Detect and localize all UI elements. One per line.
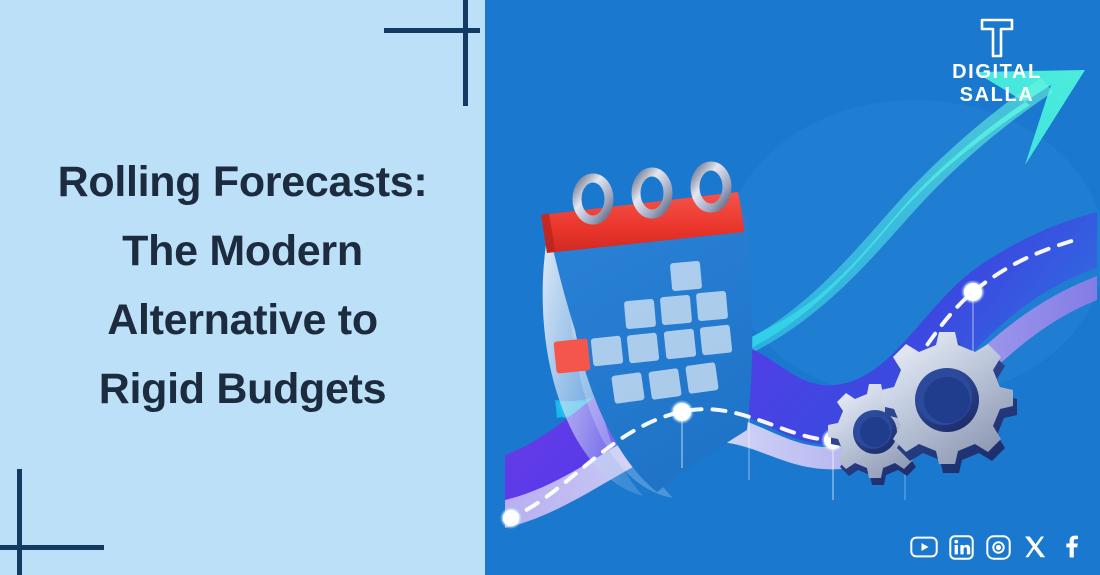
crosshair-top-vertical-icon: [463, 0, 468, 106]
crosshair-bottom-vertical-icon: [17, 469, 22, 575]
instagram-icon[interactable]: [984, 533, 1012, 561]
title-line-4: Rigid Budgets: [18, 355, 467, 424]
brand-name: DIGITAL SALLA: [912, 61, 1082, 107]
right-visual-panel: DIGITAL SALLA: [485, 0, 1100, 575]
crosshair-bottom-horizontal-icon: [0, 545, 104, 550]
social-banner-canvas: Rolling Forecasts: The Modern Alternativ…: [0, 0, 1100, 575]
x-twitter-icon[interactable]: [1021, 533, 1049, 561]
crosshair-top-horizontal-icon: [384, 28, 480, 33]
page-title: Rolling Forecasts: The Modern Alternativ…: [0, 148, 485, 424]
title-line-2: The Modern: [18, 217, 467, 286]
brand-logo: DIGITAL SALLA: [912, 16, 1082, 107]
title-line-3: Alternative to: [18, 286, 467, 355]
letter-t-monogram-icon: [912, 16, 1082, 60]
calendar-highlighted-date: [553, 338, 590, 373]
youtube-icon[interactable]: [910, 533, 938, 561]
title-line-1: Rolling Forecasts:: [18, 148, 467, 217]
facebook-icon[interactable]: [1058, 533, 1086, 561]
left-text-panel: Rolling Forecasts: The Modern Alternativ…: [0, 0, 485, 575]
social-links-bar: [910, 533, 1086, 561]
linkedin-icon[interactable]: [947, 533, 975, 561]
